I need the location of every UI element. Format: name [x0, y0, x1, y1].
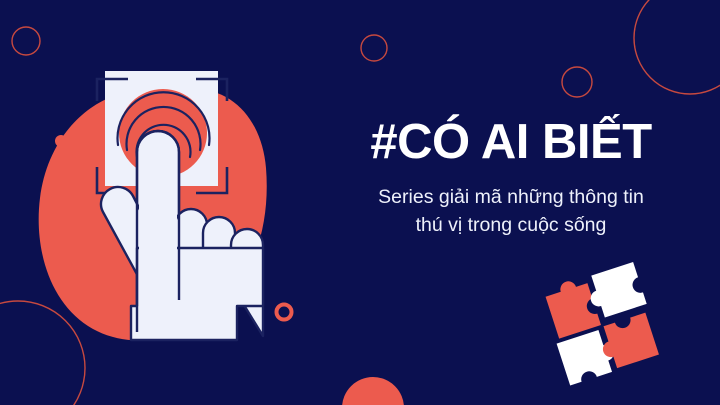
subtitle-line-1: Series giải mã những thông tin: [320, 183, 702, 211]
puzzle-piece-top-right: [584, 262, 647, 320]
puzzle-piece-top-left: [543, 276, 601, 339]
text-block: #CÓ AI BIẾT Series giải mã những thông t…: [320, 118, 702, 240]
subtitle-line-2: thú vị trong cuộc sống: [320, 211, 702, 239]
page-subtitle: Series giải mã những thông tin thú vị tr…: [320, 183, 702, 240]
page-title: #CÓ AI BIẾT: [320, 118, 702, 167]
slide-canvas: #CÓ AI BIẾT Series giải mã những thông t…: [0, 0, 720, 405]
puzzle-group: [539, 260, 663, 385]
hand-index-seam-fill: [139, 180, 177, 300]
